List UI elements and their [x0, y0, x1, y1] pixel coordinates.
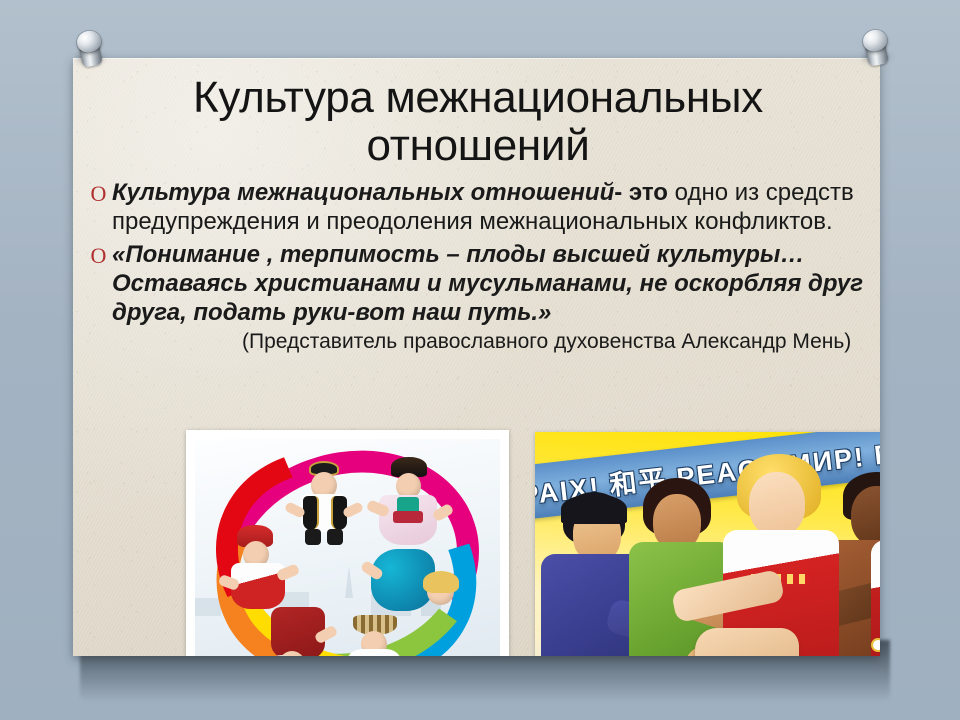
- quote-attribution: (Представитель православного духовенства…: [112, 329, 875, 355]
- bullet-rest: одно из средств предупреждения и преодол…: [112, 179, 854, 235]
- child-figure-bottom-center: [335, 615, 415, 656]
- page-title-text: Культура межнациональных отношений: [103, 74, 853, 169]
- image-children-circle-canvas: [195, 439, 500, 656]
- bullet-lead-bold: - это: [614, 179, 668, 206]
- poster-person-3: [717, 454, 845, 656]
- page-title: Культура межнациональных отношений: [103, 74, 853, 169]
- body-content: O Культура межнациональных отношений- эт…: [85, 178, 875, 359]
- bullet-text: Культура межнациональных отношений- это …: [112, 178, 875, 236]
- slide-canvas: Культура межнациональных отношений O Кул…: [0, 0, 960, 720]
- image-peace-poster: PAIX! 和平 PEACE МИР! FRIEDEN: [535, 432, 880, 656]
- pushpin-left-icon[interactable]: [72, 28, 112, 74]
- list-item: O Культура межнациональных отношений- эт…: [85, 178, 875, 236]
- quote-text: «Понимание , терпимость – плоды высшей к…: [112, 241, 863, 326]
- poster-bouquet: [865, 628, 880, 656]
- bullet-marker-icon: O: [85, 178, 112, 208]
- list-item: O «Понимание , терпимость – плоды высшей…: [85, 240, 875, 355]
- poster-joined-hands: [695, 628, 799, 656]
- child-figure-top-right: [375, 457, 451, 557]
- child-figure-top-left: [291, 461, 361, 547]
- pushpin-right-icon[interactable]: [858, 27, 898, 73]
- image-children-circle: [186, 430, 509, 656]
- bullet-marker-icon: O: [85, 240, 112, 270]
- slide-paper-sheet: Культура межнациональных отношений O Кул…: [73, 58, 880, 656]
- child-figure-bottom-left: [249, 607, 335, 656]
- bullet-text: «Понимание , терпимость – плоды высшей к…: [112, 240, 875, 355]
- bullet-lead-emphasis: Культура межнациональных отношений: [112, 179, 614, 206]
